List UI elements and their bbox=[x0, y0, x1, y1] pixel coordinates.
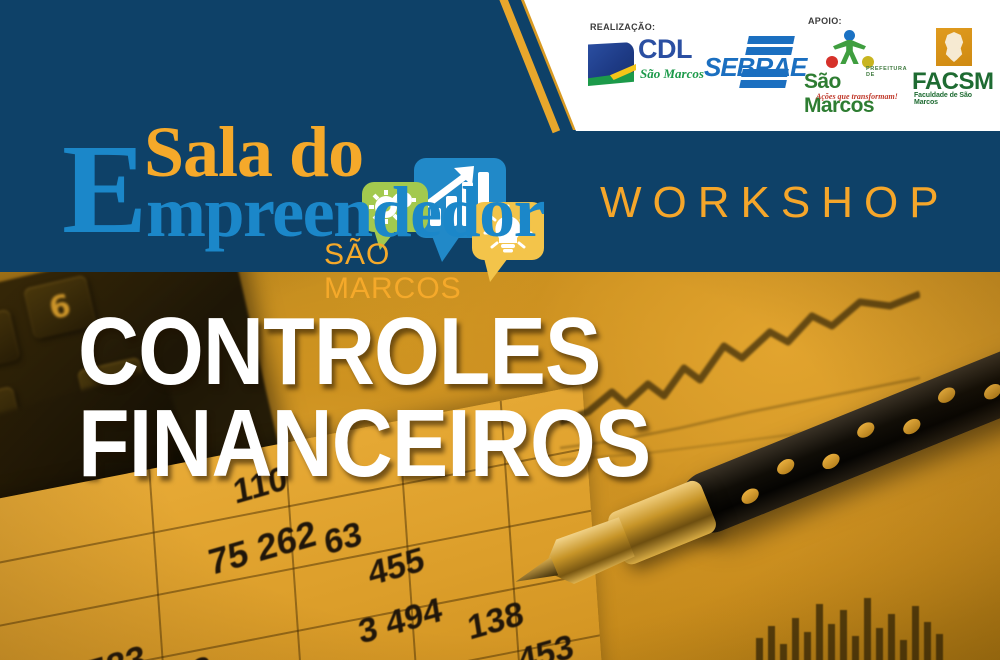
cdl-logo: CDL São Marcos bbox=[588, 36, 708, 90]
sebrae-logo: SEBRAE bbox=[704, 38, 804, 92]
facsm-logo: FACSM Faculdade de São Marcos bbox=[912, 28, 996, 102]
realizacao-label: REALIZAÇÃO: bbox=[590, 22, 655, 32]
prefeitura-red-dot-icon bbox=[826, 56, 838, 68]
event-type-label: WORKSHOP bbox=[600, 178, 950, 228]
poster-canvas: 3 6 + 110 75 262 63 455 3 494 138 453 73 bbox=[0, 0, 1000, 660]
facsm-sublabel: Faculdade de São Marcos bbox=[914, 92, 996, 106]
brand-big-letter: E bbox=[62, 138, 147, 240]
prefeitura-sao-marcos-logo: PREFEITURA DE São Marcos Ações que trans… bbox=[804, 28, 910, 98]
prefeitura-tagline: Ações que transformam! bbox=[816, 92, 898, 101]
sponsor-logos: REALIZAÇÃO: APOIO: CDL São Marcos SEBRAE… bbox=[576, 12, 996, 117]
cdl-wordmark: CDL bbox=[638, 36, 692, 63]
poster-title-line-1: CONTROLES bbox=[78, 306, 624, 398]
apoio-label: APOIO: bbox=[808, 16, 842, 26]
poster-title-line-2: FINANCEIROS bbox=[78, 398, 624, 490]
brand-logo: E Sala do mpreendedor SÃO MARCOS bbox=[62, 118, 532, 268]
poster-title: CONTROLES FINANCEIROS bbox=[78, 306, 624, 490]
sebrae-wordmark: SEBRAE bbox=[704, 52, 806, 83]
cdl-sublabel: São Marcos bbox=[640, 66, 704, 82]
prefeitura-figure-head-icon bbox=[844, 30, 855, 41]
brand-subtitle: SÃO MARCOS bbox=[324, 238, 532, 306]
sebrae-bar-1 bbox=[747, 36, 795, 44]
